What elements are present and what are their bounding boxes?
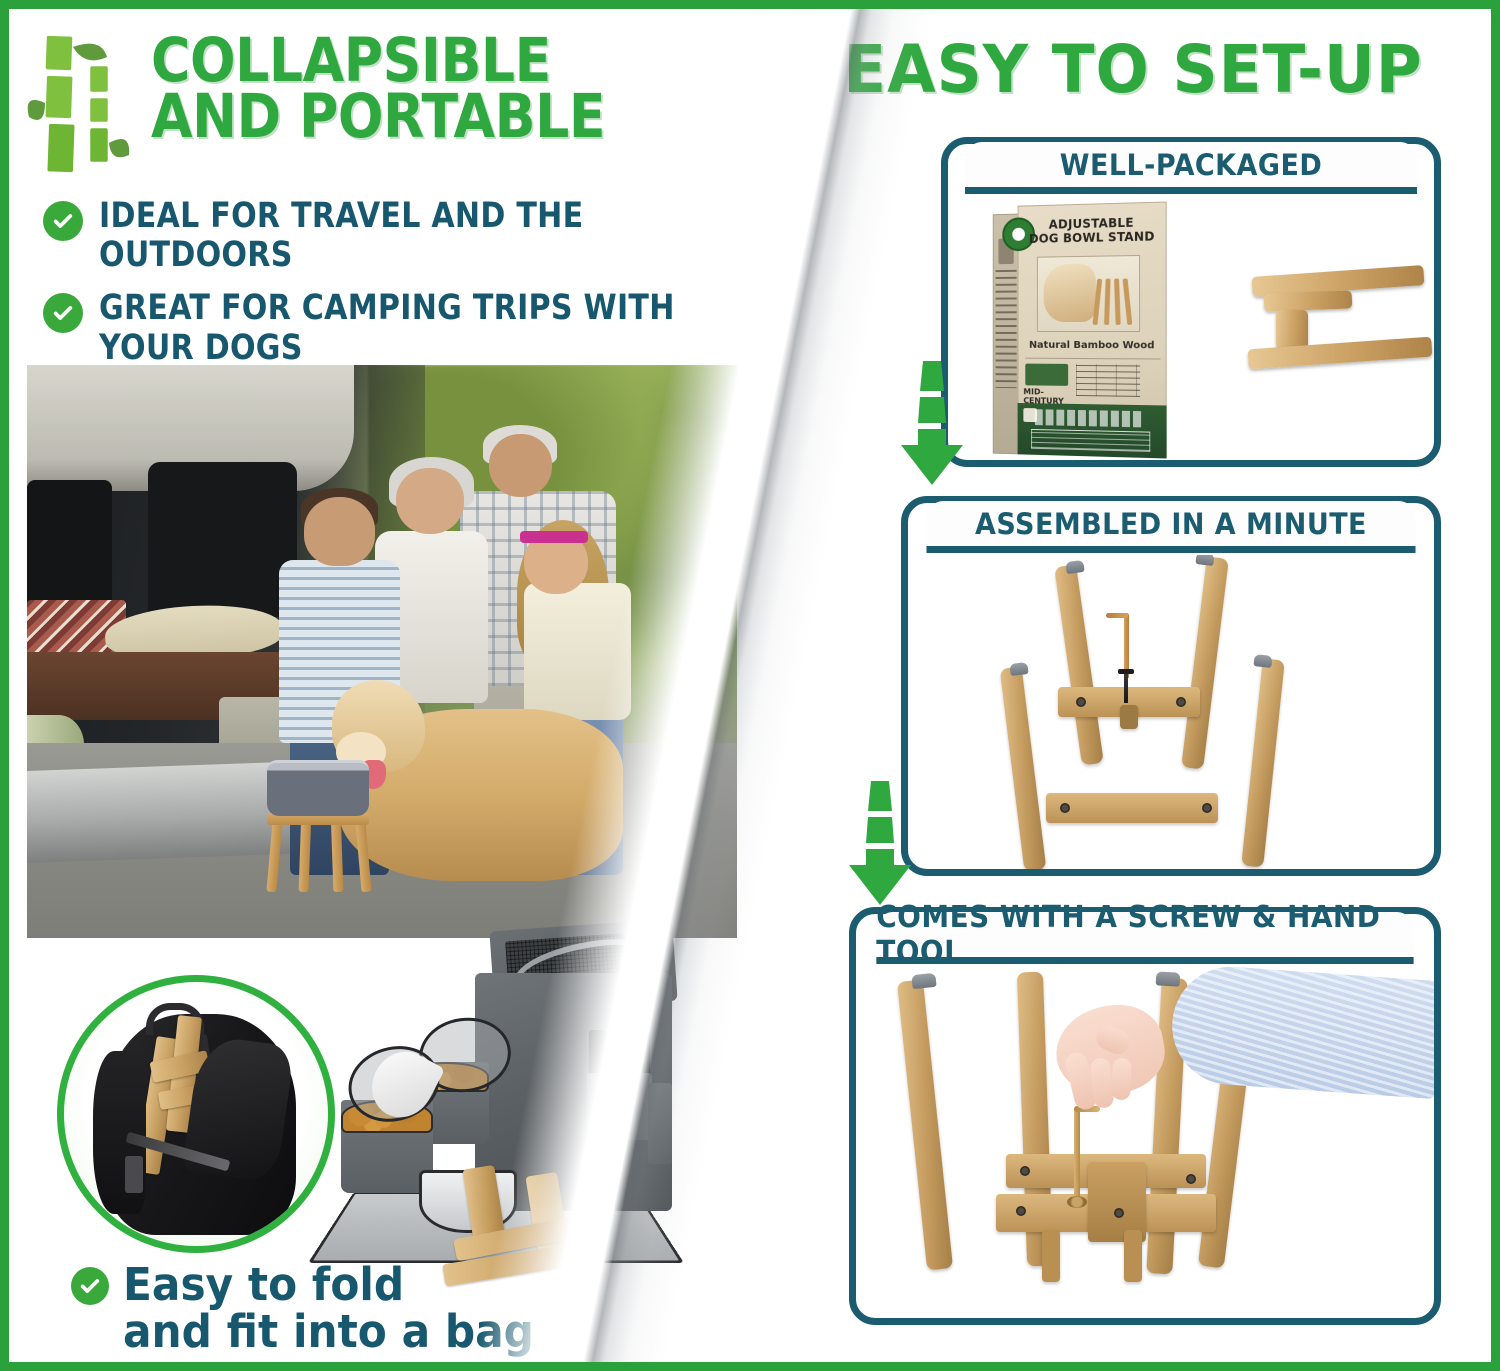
hand-tool-icon xyxy=(1074,1108,1080,1200)
down-arrow-icon-1 xyxy=(899,361,965,487)
check-circle-icon xyxy=(71,1267,109,1305)
fold-caption-text: Easy to fold and fit into a bag xyxy=(123,1261,534,1356)
step-card-screw-tool: COMES WITH A SCREW & HAND TOOL xyxy=(849,907,1441,1325)
check-circle-icon xyxy=(43,293,83,333)
retail-box-with-bamboo-parts-photo: ADJUSTABLE DOG BOWL STAND Natural Bamboo… xyxy=(948,196,1434,460)
step-card-well-packaged: WELL-PACKAGED ADJUSTABLE DOG BOWL STAND xyxy=(941,137,1441,467)
fold-caption: Easy to fold and fit into a bag xyxy=(71,1261,560,1356)
package-title: ADJUSTABLE DOG BOWL STAND xyxy=(993,216,1167,247)
backpack-with-folded-stand-photo xyxy=(57,975,335,1253)
step-title: COMES WITH A SCREW & HAND TOOL xyxy=(876,912,1414,964)
down-arrow-icon-2 xyxy=(847,781,913,907)
package-photo xyxy=(1037,255,1140,332)
step-title: WELL-PACKAGED xyxy=(965,142,1417,194)
product-infographic: COLLAPSIBLE AND PORTABLE IDEAL FOR TRAVE… xyxy=(0,0,1500,1371)
left-panel: COLLAPSIBLE AND PORTABLE IDEAL FOR TRAVE… xyxy=(9,9,769,1362)
benefit-text: GREAT FOR CAMPING TRIPS WITH YOUR DOGS xyxy=(99,289,675,367)
family-with-dog-at-van-photo xyxy=(27,365,737,938)
step-title: ASSEMBLED IN A MINUTE xyxy=(926,501,1415,553)
assembled-bamboo-frame-photo xyxy=(908,555,1434,869)
travel-bag-set-photo xyxy=(327,921,679,1293)
package-subtitle: Natural Bamboo Wood xyxy=(1018,340,1167,352)
benefit-list: IDEAL FOR TRAVEL AND THE OUTDOORS GREAT … xyxy=(43,197,773,382)
list-item: GREAT FOR CAMPING TRIPS WITH YOUR DOGS xyxy=(43,289,773,367)
benefit-text: IDEAL FOR TRAVEL AND THE OUTDOORS xyxy=(99,197,679,275)
list-item: IDEAL FOR TRAVEL AND THE OUTDOORS xyxy=(43,197,773,275)
retail-box: ADJUSTABLE DOG BOWL STAND Natural Bamboo… xyxy=(993,201,1167,458)
left-headline-block: COLLAPSIBLE AND PORTABLE xyxy=(27,25,727,181)
right-panel: EASY TO SET-UP WELL-PACKAGED ADJUSTABLE … xyxy=(751,9,1491,1362)
check-circle-icon xyxy=(43,201,83,241)
step-card-assembled: ASSEMBLED IN A MINUTE xyxy=(901,496,1441,876)
right-panel-title: EASY TO SET-UP xyxy=(810,37,1456,103)
arm-sleeve xyxy=(1168,966,1434,1099)
hand-tightening-screw-photo xyxy=(856,966,1434,1318)
bamboo-icon xyxy=(27,31,137,181)
loose-bamboo-parts xyxy=(1236,256,1434,406)
page-title: COLLAPSIBLE AND PORTABLE xyxy=(151,25,658,145)
bamboo-bowl-stand xyxy=(261,760,375,892)
